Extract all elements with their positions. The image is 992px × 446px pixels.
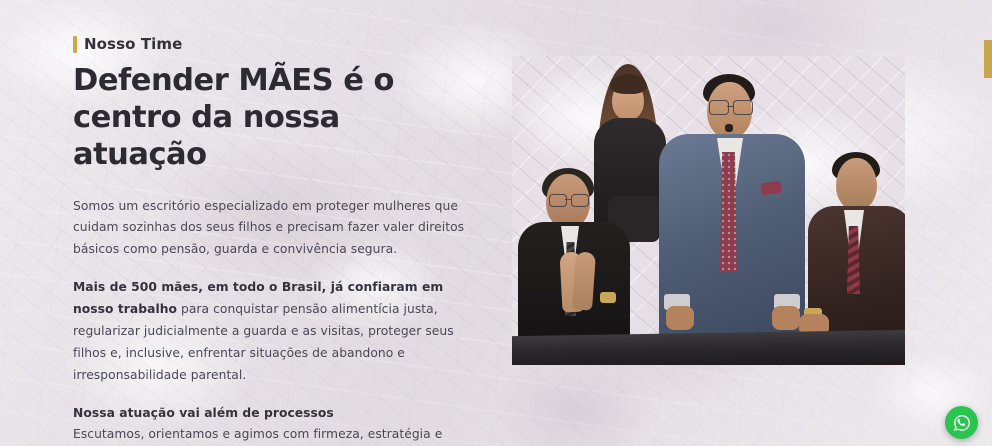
team-section: Nosso Time Defender MÃES é o centro da n…: [0, 0, 992, 446]
paragraph-approach: Nossa atuação vai além de processosEscut…: [73, 403, 488, 446]
photo-desk: [512, 330, 905, 365]
eyebrow-label: Nosso Time: [84, 37, 182, 52]
accent-bar-icon: [73, 36, 77, 53]
paragraph-approach-heading: Nossa atuação vai além de processos: [73, 403, 488, 425]
whatsapp-float-button[interactable]: [945, 406, 978, 439]
whatsapp-icon: [952, 413, 972, 433]
paragraph-approach-body: Escutamos, orientamos e agimos com firme…: [73, 427, 479, 446]
page-title: Defender MÃES é o centro da nossa atuaçã…: [73, 62, 473, 174]
paragraph-intro: Somos um escritório especializado em pro…: [73, 196, 488, 262]
paragraph-stats: Mais de 500 mães, em todo o Brasil, já c…: [73, 277, 488, 386]
side-tab-handle[interactable]: [984, 40, 992, 78]
team-photo: [512, 56, 905, 365]
text-column: Nosso Time Defender MÃES é o centro da n…: [73, 36, 488, 446]
eyebrow: Nosso Time: [73, 36, 488, 53]
team-photo-image: [512, 56, 905, 365]
